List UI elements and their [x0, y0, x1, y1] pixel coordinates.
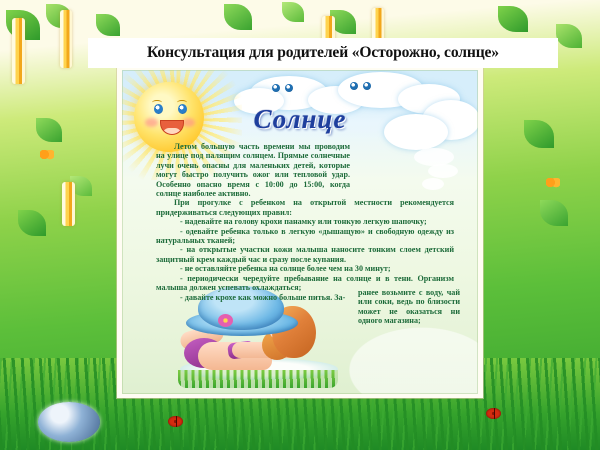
content-card: Солнце Летом большую часть времени мы пр… — [117, 66, 483, 398]
page-title: Консультация для родителей «Осторожно, с… — [88, 38, 558, 68]
page-title-text: Консультация для родителей «Осторожно, с… — [147, 44, 499, 62]
content-card-inner: Солнце Летом большую часть времени мы пр… — [122, 70, 478, 394]
cloud-eye-icon — [363, 82, 371, 90]
rule-clothing: - одевайте ребенка только в легкую «дыша… — [156, 227, 454, 246]
grass-under-girl-icon — [178, 370, 338, 388]
cloud-eye-icon — [350, 82, 358, 90]
poster-canvas: Консультация для родителей «Осторожно, с… — [0, 0, 600, 450]
birch-trunk-icon — [60, 10, 72, 68]
girl-text-wrap-spacer — [350, 142, 454, 196]
heading-sun-word: Солнце — [122, 104, 478, 135]
rule-sunscreen: - на открытые участки кожи малыша наноси… — [156, 245, 454, 264]
rule-hat: - надевайте на голову крохи панамку или … — [156, 217, 454, 226]
advice-text-tail: ранее возьмите с воду, чай или соки, вед… — [358, 288, 460, 326]
birch-trunk-icon — [62, 182, 75, 226]
paragraph-rules-lead: При прогулке с ребенком на открытой мест… — [156, 198, 454, 217]
cloud-eye-icon — [285, 84, 293, 92]
hat-flower-icon — [218, 314, 233, 327]
butterfly-icon — [40, 150, 54, 161]
ladybug-icon — [168, 416, 183, 427]
pebble-icon — [38, 402, 100, 442]
advice-text-block: Летом большую часть времени мы проводим … — [156, 142, 454, 302]
cloud-eye-icon — [272, 84, 280, 92]
ladybug-icon — [486, 408, 501, 419]
butterfly-icon — [546, 178, 560, 189]
rule-time-limit: - не оставляйте ребенка на солнце более … — [156, 264, 454, 273]
birch-trunk-icon — [12, 18, 25, 84]
